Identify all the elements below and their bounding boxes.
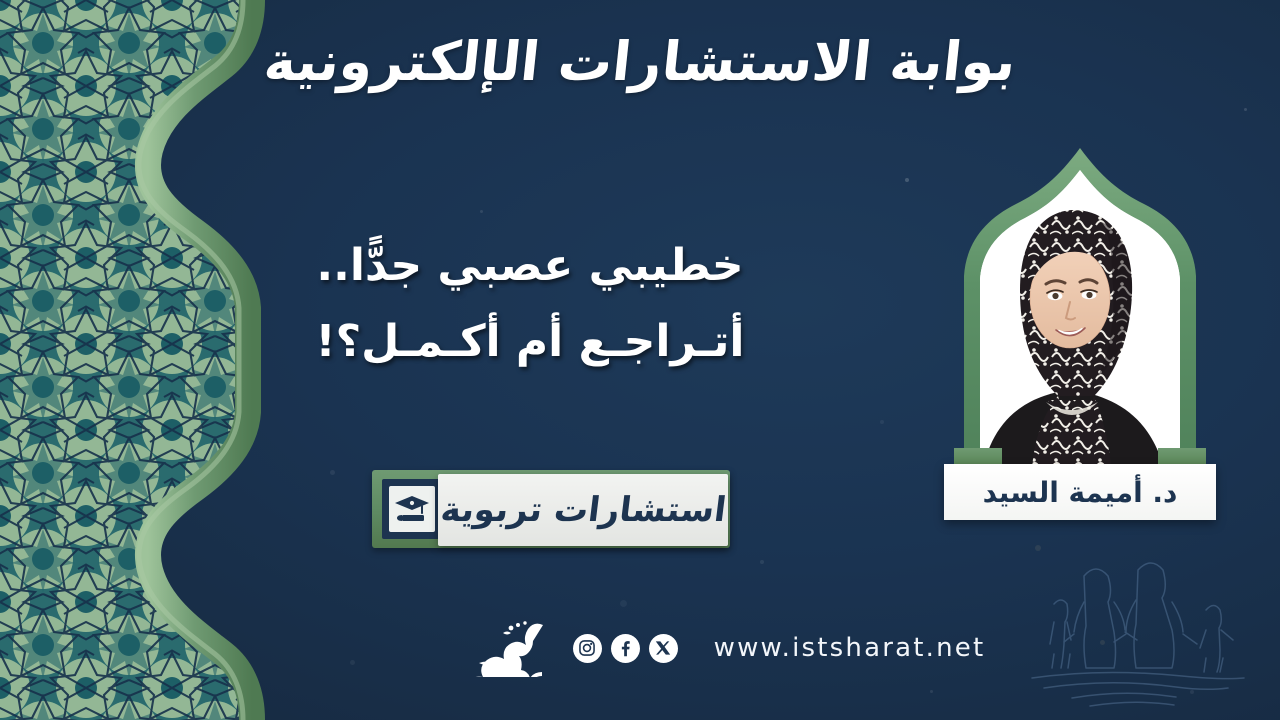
mujtama-logo — [455, 619, 551, 677]
dust-particle — [1244, 108, 1247, 111]
dust-particle — [880, 420, 884, 424]
page-title: خطيبي عصبي جدًّا.. أتـراجـع أم أكـمـل؟! — [250, 228, 810, 379]
presenter-card: د. أميمة السيد — [944, 148, 1216, 520]
dust-particle — [1190, 690, 1194, 694]
website-url[interactable]: www.istsharat.net — [714, 633, 986, 663]
instagram-icon[interactable] — [573, 634, 602, 663]
poster-canvas: بوابة الاستشارات الإلكترونية خطيبي عصبي … — [0, 0, 1280, 720]
presenter-name: د. أميمة السيد — [983, 476, 1178, 509]
facebook-icon[interactable] — [611, 634, 640, 663]
dust-particle — [905, 178, 909, 182]
badge-label: استشارات تربوية — [438, 490, 728, 530]
footer: www.istsharat.net — [0, 618, 1280, 678]
dust-particle — [760, 560, 764, 564]
dust-particle — [930, 690, 933, 693]
title-line-1: خطيبي عصبي جدًّا.. — [250, 228, 810, 304]
badge-plate: استشارات تربوية — [438, 474, 728, 546]
title-line-2: أتـراجـع أم أكـمـل؟! — [250, 304, 810, 380]
dust-particle — [620, 600, 627, 607]
dust-particle — [330, 470, 335, 475]
dust-particle — [1035, 545, 1041, 551]
x-twitter-icon[interactable] — [649, 634, 678, 663]
header-calligraphy: بوابة الاستشارات الإلكترونية — [0, 34, 1280, 91]
presenter-name-plate: د. أميمة السيد — [944, 464, 1216, 520]
graduation-cap-book-icon — [389, 486, 435, 532]
badge-icon-tile — [382, 479, 442, 539]
social-links[interactable] — [573, 634, 678, 663]
portal-title-text: بوابة الاستشارات الإلكترونية — [0, 34, 1280, 91]
dust-particle — [480, 210, 483, 213]
